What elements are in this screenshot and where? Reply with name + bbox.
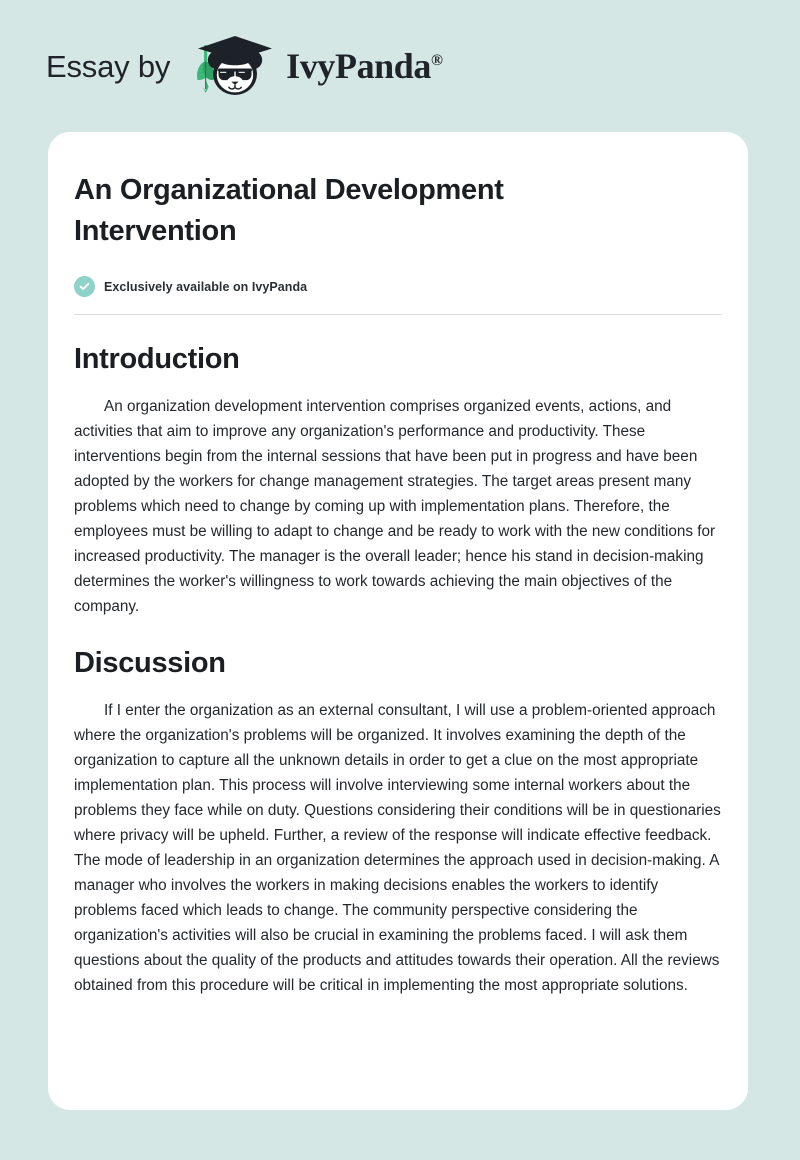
site-header: Essay by xyxy=(0,0,800,132)
ivypanda-logo[interactable]: IvyPanda® xyxy=(184,33,442,99)
header-branding: Essay by xyxy=(46,33,443,99)
title-divider xyxy=(74,314,722,315)
section-heading-discussion: Discussion xyxy=(74,646,722,681)
registered-trademark-symbol: ® xyxy=(431,52,443,69)
page-title: An Organizational Development Interventi… xyxy=(74,170,634,252)
check-circle-icon xyxy=(74,276,95,297)
section-paragraph-discussion: If I enter the organization as an extern… xyxy=(74,698,722,998)
ivypanda-wordmark-text: IvyPanda xyxy=(286,46,431,86)
status-badge: Exclusively available on IvyPanda xyxy=(74,276,722,297)
essay-by-label: Essay by xyxy=(46,51,170,82)
essay-card-content: An Organizational Development Interventi… xyxy=(74,170,722,998)
ivypanda-panda-graduate-logo-icon xyxy=(184,33,278,99)
ivypanda-wordmark: IvyPanda® xyxy=(286,48,442,84)
section-heading-introduction: Introduction xyxy=(74,342,722,377)
essay-card: An Organizational Development Interventi… xyxy=(48,132,748,1110)
section-paragraph-introduction: An organization development intervention… xyxy=(74,394,722,619)
status-badge-label: Exclusively available on IvyPanda xyxy=(104,280,307,294)
